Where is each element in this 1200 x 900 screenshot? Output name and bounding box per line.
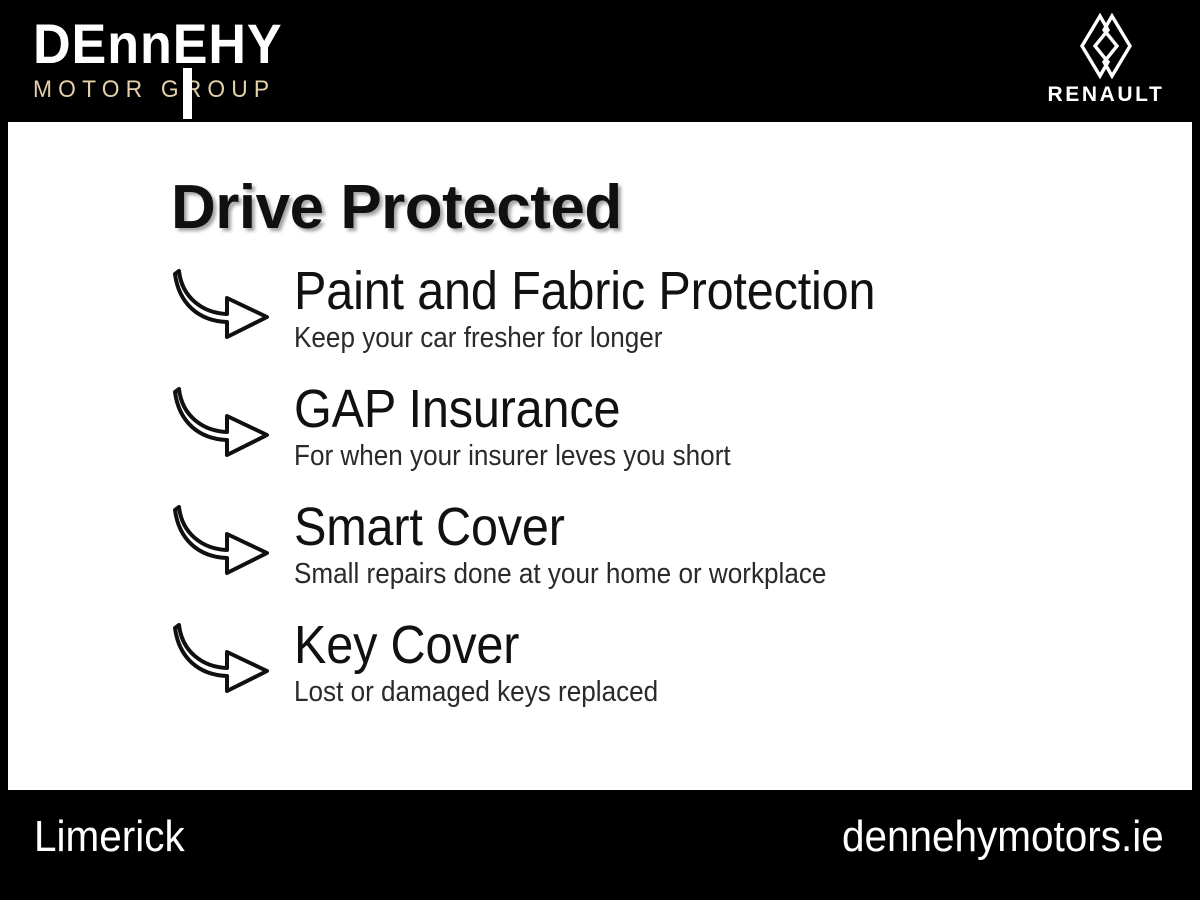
advertisement-banner: DEnnEHY MOTOR GROUP RENAULT Drive Protec… (0, 0, 1200, 900)
benefit-title: Paint and Fabric Protection (294, 262, 1050, 320)
page-headline: Drive Protected (171, 172, 622, 244)
curved-arrow-icon (173, 386, 273, 458)
curved-arrow-icon (173, 268, 273, 340)
benefits-list: Paint and Fabric Protection Keep your ca… (8, 262, 1192, 734)
footer-location: Limerick (34, 812, 185, 862)
benefit-title: Key Cover (294, 616, 1050, 674)
benefit-subtitle: Small repairs done at your home or workp… (294, 558, 1050, 591)
footer-website-link[interactable]: dennehymotors.ie (842, 812, 1164, 862)
renault-diamond-icon (1078, 12, 1134, 80)
benefit-item: GAP Insurance For when your insurer leve… (8, 380, 1192, 498)
logo-divider-bar (183, 68, 192, 119)
benefit-text-block: GAP Insurance For when your insurer leve… (294, 380, 1134, 473)
benefit-title: GAP Insurance (294, 380, 1050, 438)
dennehy-motor-group-logo[interactable]: DEnnEHY MOTOR GROUP (33, 16, 303, 111)
benefit-title: Smart Cover (294, 498, 1050, 556)
footer-bar: Limerick dennehymotors.ie (0, 790, 1200, 900)
dennehy-tagline: MOTOR GROUP (33, 77, 290, 103)
curved-arrow-icon (173, 622, 273, 694)
benefit-subtitle: Keep your car fresher for longer (294, 322, 1050, 355)
content-panel: Drive Protected Paint and Fabric Protect… (8, 122, 1192, 790)
renault-logo[interactable]: RENAULT (1036, 12, 1176, 112)
benefit-subtitle: Lost or damaged keys replaced (294, 676, 1050, 709)
header-bar: DEnnEHY MOTOR GROUP RENAULT (0, 0, 1200, 122)
benefit-text-block: Paint and Fabric Protection Keep your ca… (294, 262, 1134, 355)
benefit-subtitle: For when your insurer leves you short (294, 440, 1050, 473)
benefit-item: Paint and Fabric Protection Keep your ca… (8, 262, 1192, 380)
benefit-item: Key Cover Lost or damaged keys replaced (8, 616, 1192, 734)
curved-arrow-icon (173, 504, 273, 576)
benefit-text-block: Smart Cover Small repairs done at your h… (294, 498, 1134, 591)
benefit-text-block: Key Cover Lost or damaged keys replaced (294, 616, 1134, 709)
benefit-item: Smart Cover Small repairs done at your h… (8, 498, 1192, 616)
renault-wordmark: RENAULT (1048, 84, 1165, 106)
dennehy-wordmark: DEnnEHY (33, 16, 284, 72)
